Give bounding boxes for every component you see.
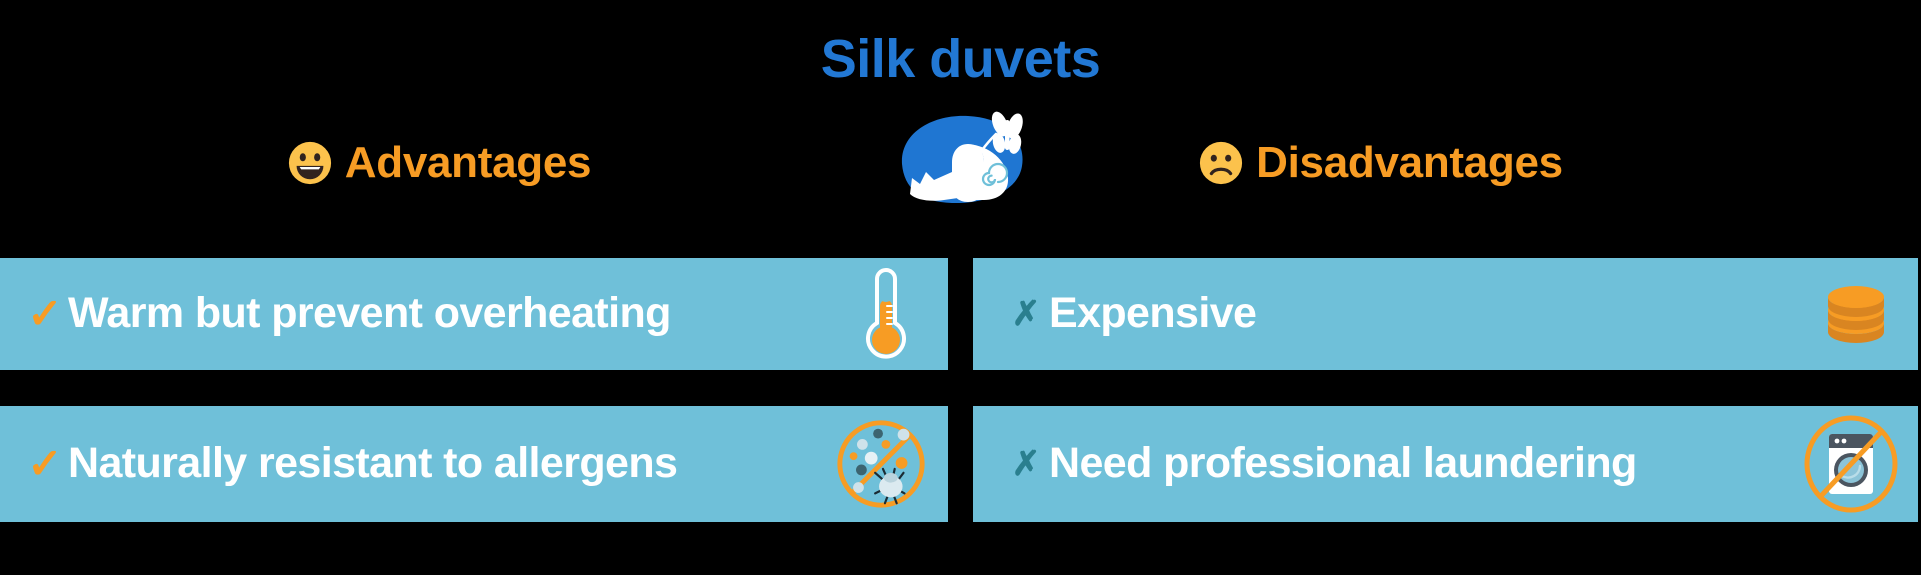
check-mark-icon: ✓	[22, 443, 68, 485]
frowning-face-emoji	[1198, 140, 1244, 186]
disadvantage-row-1: ✗ Expensive	[973, 258, 1918, 370]
advantage-row-1: ✓ Warm but prevent overheating	[0, 258, 948, 370]
silk-duvets-infographic: Silk duvets Advantages	[0, 0, 1921, 575]
advantage-row-2: ✓ Naturally resistant to allergens	[0, 406, 948, 522]
disadvantage-row-1-text: Expensive	[1049, 291, 1808, 336]
no-washing-machine-icon	[1798, 411, 1904, 517]
coin-stack-icon	[1808, 264, 1904, 364]
advantages-column-header: Advantages	[0, 132, 948, 194]
disadvantages-label: Disadvantages	[1256, 138, 1563, 188]
check-mark-icon: ✓	[22, 293, 68, 335]
cross-mark-icon: ✗	[1003, 447, 1049, 481]
disadvantage-row-2: ✗ Need professional laundering	[973, 406, 1918, 522]
advantage-row-1-text: Warm but prevent overheating	[68, 291, 838, 336]
advantage-row-2-text: Naturally resistant to allergens	[68, 441, 828, 486]
disadvantage-row-2-text: Need professional laundering	[1049, 441, 1798, 486]
cross-mark-icon: ✗	[1003, 297, 1049, 331]
disadvantages-column-header: Disadvantages	[973, 132, 1918, 194]
advantages-label: Advantages	[345, 138, 591, 188]
page-title: Silk duvets	[0, 32, 1921, 86]
no-dust-mite-icon	[828, 411, 934, 517]
thermometer-icon	[838, 264, 934, 364]
grinning-face-emoji	[287, 140, 333, 186]
